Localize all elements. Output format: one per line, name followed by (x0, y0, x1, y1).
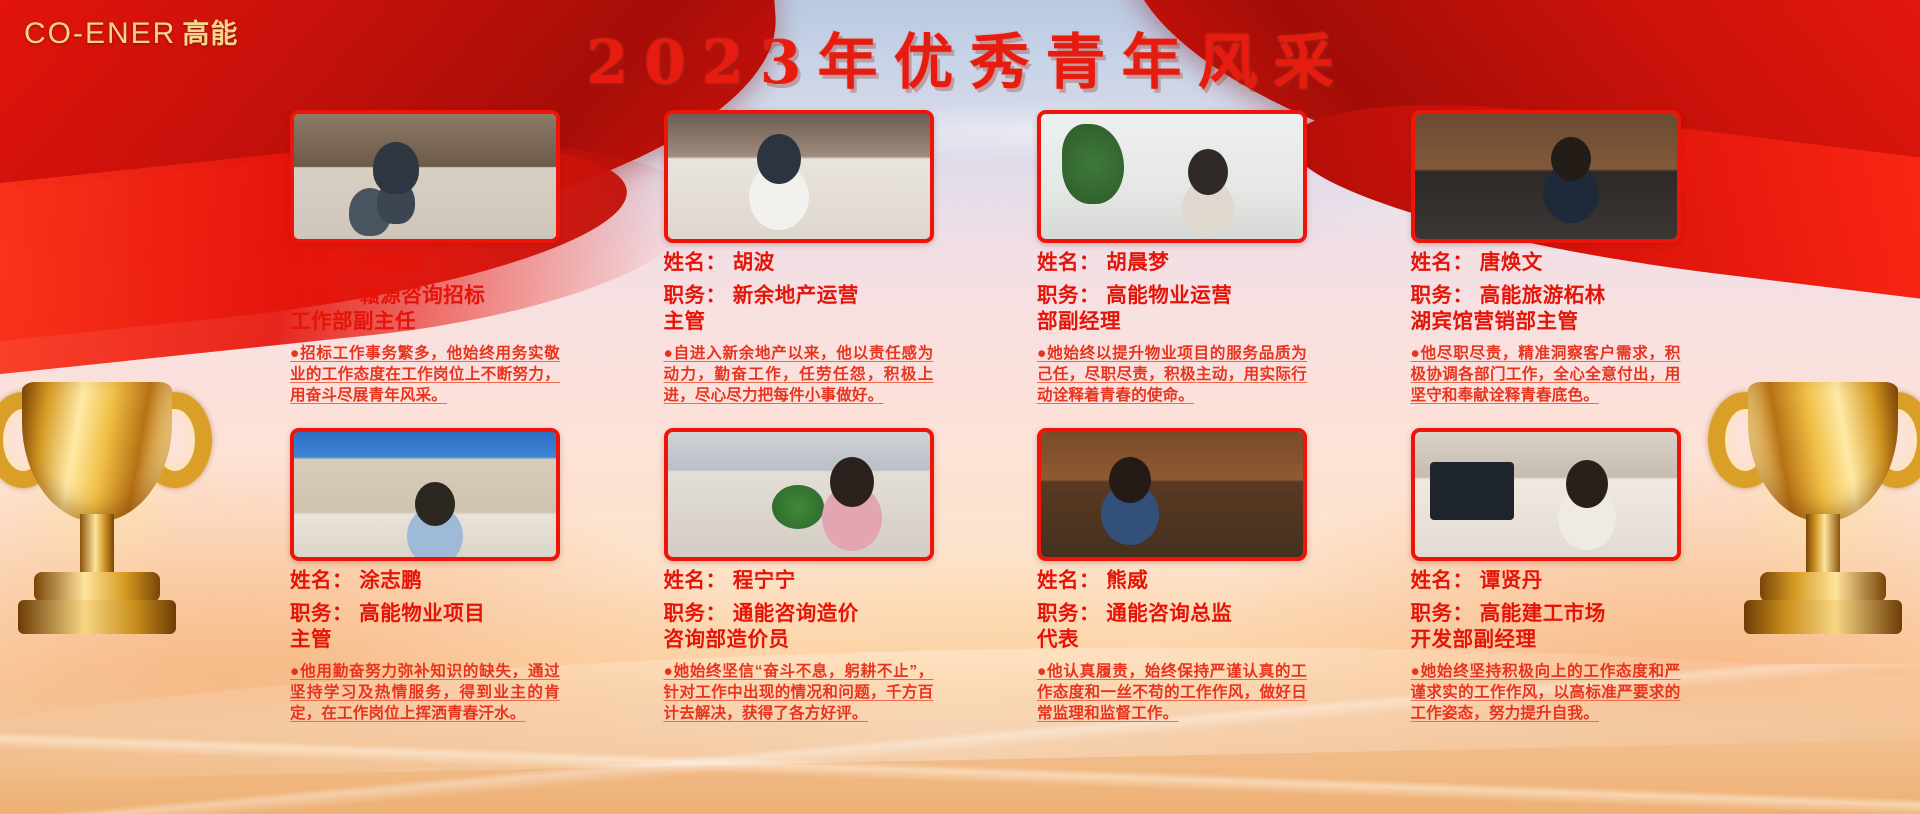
profile-position-line: 职务： 新余地产运营 主管 (664, 283, 934, 335)
profile-position-line: 职务： 高能物业项目 主管 (290, 601, 560, 653)
profile-name-line: 姓名： 涂志鹏 (290, 568, 560, 594)
profile-name-line: 姓名： 唐焕文 (1411, 250, 1681, 276)
profile-description: ●他用勤奋努力弥补知识的缺失，通过坚持学习及热情服务，得到业主的肯定，在工作岗位… (290, 661, 560, 724)
profile-position-line: 职务： 高能旅游柘林 湖宾馆营销部主管 (1411, 283, 1681, 335)
profile-card: 姓名： 谭贤丹 职务： 高能建工市场 开发部副经理 ●她始终坚持积极向上的工作态… (1411, 428, 1681, 724)
profile-description: ●自进入新余地产以来，他以责任感为动力，勤奋工作，任劳任怨，积极上进，尽心尽力把… (664, 343, 934, 406)
profile-photo (1411, 110, 1681, 243)
profile-name-line: 姓名： 程宁宁 (664, 568, 934, 594)
profile-photo (290, 428, 560, 561)
profile-card: 姓名： 余致松 职务： 赣源咨询招标 工作部副主任 ●招标工作事务繁多，他始终用… (290, 110, 560, 406)
profile-card: 姓名： 胡晨梦 职务： 高能物业运营 部副经理 ●她始终以提升物业项目的服务品质… (1037, 110, 1307, 406)
logo-mark-text: CO-ENER (24, 17, 176, 51)
profile-description: ●他认真履责，始终保持严谨认真的工作态度和一丝不苟的工作作风，做好日常监理和监督… (1037, 661, 1307, 724)
profile-position-line: 职务： 通能咨询造价 咨询部造价员 (664, 601, 934, 653)
profile-description: ●她始终以提升物业项目的服务品质为己任，尽职尽责，积极主动，用实际行动诠释着青春… (1037, 343, 1307, 406)
profile-name-line: 姓名： 余致松 (290, 250, 560, 276)
profile-card: 姓名： 程宁宁 职务： 通能咨询造价 咨询部造价员 ●她始终坚信“奋斗不息，躬耕… (664, 428, 934, 724)
profile-photo (664, 428, 934, 561)
profile-card: 姓名： 唐焕文 职务： 高能旅游柘林 湖宾馆营销部主管 ●他尽职尽责，精准洞察客… (1411, 110, 1681, 406)
trophy-right-icon (1716, 364, 1920, 694)
profile-photo (290, 110, 560, 243)
profile-card: 姓名： 熊威 职务： 通能咨询总监 代表 ●他认真履责，始终保持严谨认真的工作态… (1037, 428, 1307, 724)
profile-grid: 姓名： 余致松 职务： 赣源咨询招标 工作部副主任 ●招标工作事务繁多，他始终用… (290, 110, 1710, 724)
profile-photo (1037, 428, 1307, 561)
profile-card: 姓名： 涂志鹏 职务： 高能物业项目 主管 ●他用勤奋努力弥补知识的缺失，通过坚… (290, 428, 560, 724)
profile-position-line: 职务： 赣源咨询招标 工作部副主任 (290, 283, 560, 335)
profile-photo (1411, 428, 1681, 561)
profile-position-line: 职务： 高能建工市场 开发部副经理 (1411, 601, 1681, 653)
profile-position-line: 职务： 高能物业运营 部副经理 (1037, 283, 1307, 335)
profile-photo (664, 110, 934, 243)
company-logo: CO-ENER 高能 (24, 12, 238, 51)
trophy-left-icon (0, 364, 204, 694)
profile-name-line: 姓名： 谭贤丹 (1411, 568, 1681, 594)
profile-position-line: 职务： 通能咨询总监 代表 (1037, 601, 1307, 653)
logo-chinese-text: 高能 (182, 12, 238, 51)
profile-name-line: 姓名： 胡晨梦 (1037, 250, 1307, 276)
profile-description: ●招标工作事务繁多，他始终用务实敬业的工作态度在工作岗位上不断努力，用奋斗尽展青… (290, 343, 560, 406)
page-title: 2023年优秀青年风采 (0, 14, 1920, 101)
profile-photo (1037, 110, 1307, 243)
profile-description: ●她始终坚持积极向上的工作态度和严谨求实的工作作风，以高标准严要求的工作姿态，努… (1411, 661, 1681, 724)
profile-name-line: 姓名： 胡波 (664, 250, 934, 276)
profile-card: 姓名： 胡波 职务： 新余地产运营 主管 ●自进入新余地产以来，他以责任感为动力… (664, 110, 934, 406)
profile-description: ●她始终坚信“奋斗不息，躬耕不止”，针对工作中出现的情况和问题，千方百计去解决，… (664, 661, 934, 724)
profile-description: ●他尽职尽责，精准洞察客户需求，积极协调各部门工作，全心全意付出，用坚守和奉献诠… (1411, 343, 1681, 406)
profile-name-line: 姓名： 熊威 (1037, 568, 1307, 594)
